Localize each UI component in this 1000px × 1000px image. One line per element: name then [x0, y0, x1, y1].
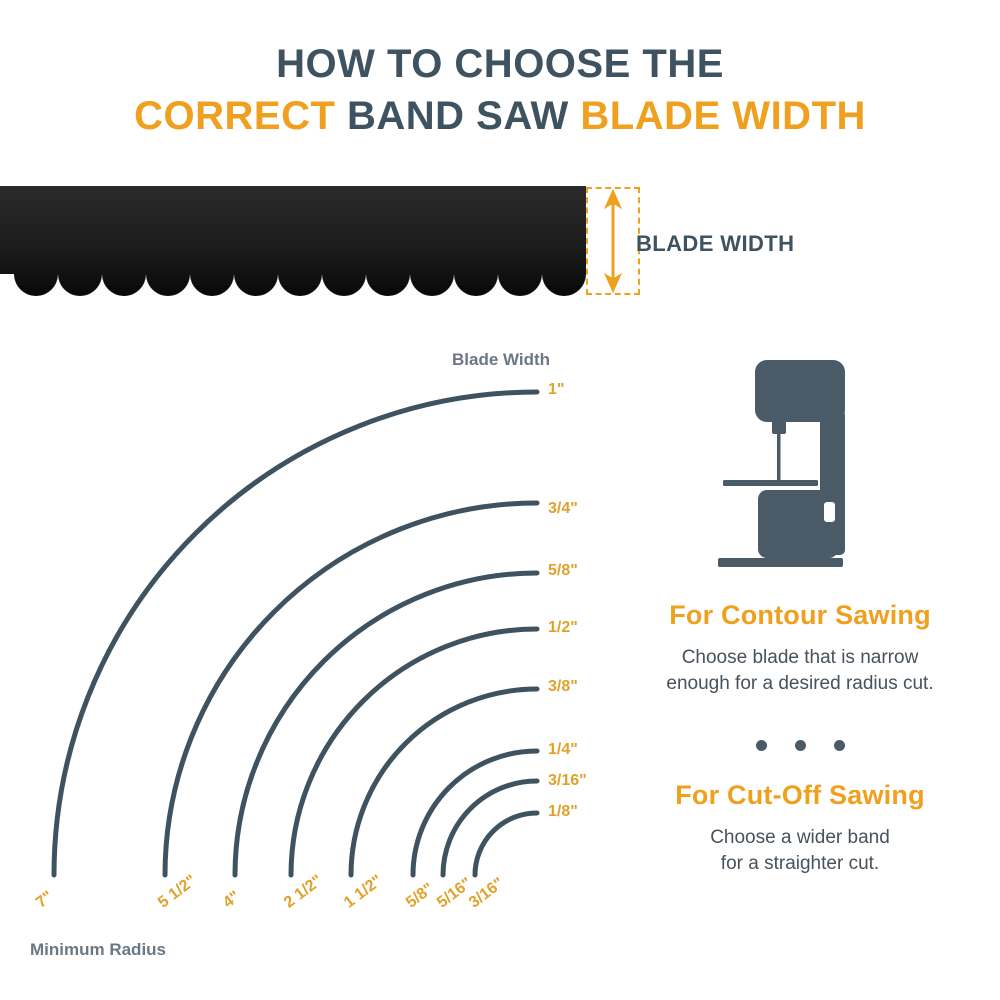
- cutoff-body-line-2: for a straighter cut.: [721, 853, 879, 874]
- headline-bandsaw: BAND SAW: [347, 94, 569, 138]
- arc-label-1-2in: 1/2": [548, 619, 578, 637]
- arc-label-3-4in: 3/4": [548, 500, 578, 518]
- cutoff-sawing-body: Choose a wider band for a straighter cut…: [600, 825, 1000, 877]
- contour-body-line-1: Choose blade that is narrow: [682, 647, 919, 668]
- arc-label-1-8in: 1/8": [548, 803, 578, 821]
- separator-dot: [795, 740, 806, 751]
- cutoff-sawing-title: For Cut-Off Sawing: [600, 780, 1000, 811]
- cutoff-body-line-1: Choose a wider band: [710, 827, 890, 848]
- saw-floor-plate: [718, 558, 843, 567]
- saw-table: [723, 480, 818, 486]
- arc-1-8in: [475, 813, 537, 875]
- arc-1in: [54, 392, 537, 875]
- separator-dot: [834, 740, 845, 751]
- band-saw-machine-icon: [700, 350, 920, 575]
- saw-base-body: [758, 490, 838, 558]
- arc-label-3-16in: 3/16": [548, 772, 587, 790]
- saw-blade-guide: [772, 420, 786, 434]
- blade-width-callout-box: [586, 187, 640, 295]
- blade-illustration: [0, 186, 640, 301]
- arc-1-4in: [413, 751, 537, 875]
- blade-width-text: BLADE WIDTH: [636, 231, 794, 257]
- radius-arc-chart: [0, 330, 620, 900]
- saw-blade-line: [777, 434, 781, 484]
- headline-correct: CORRECT: [134, 94, 335, 138]
- arc-label-1-4in: 1/4": [548, 741, 578, 759]
- arc-label-1in: 1": [548, 381, 564, 399]
- arc-3-4in: [165, 503, 537, 875]
- arc-1-2in: [291, 629, 537, 875]
- contour-body-line-2: enough for a desired radius cut.: [666, 673, 933, 694]
- saw-switch-panel: [824, 502, 835, 522]
- section-separator-dots: [600, 740, 1000, 751]
- contour-sawing-title: For Contour Sawing: [600, 600, 1000, 631]
- page-title: HOW TO CHOOSE THE CORRECT BAND SAW BLADE…: [0, 44, 1000, 136]
- headline-line-1: HOW TO CHOOSE THE: [0, 44, 1000, 84]
- contour-sawing-body: Choose blade that is narrow enough for a…: [600, 645, 1000, 697]
- headline-bladewidth: BLADE WIDTH: [580, 94, 865, 138]
- blade-body: [0, 186, 586, 301]
- arc-3-8in: [351, 689, 537, 875]
- arc-3-16in: [443, 781, 537, 875]
- infographic-page: HOW TO CHOOSE THE CORRECT BAND SAW BLADE…: [0, 0, 1000, 1000]
- cutoff-sawing-tip: For Cut-Off Sawing Choose a wider band f…: [600, 780, 1000, 877]
- headline-line-2: CORRECT BAND SAW BLADE WIDTH: [0, 96, 1000, 136]
- arc-group: [54, 392, 537, 875]
- double-arrow-icon: [605, 190, 621, 292]
- arc-label-5-8in: 5/8": [548, 562, 578, 580]
- separator-dot: [756, 740, 767, 751]
- arc-label-3-8in: 3/8": [548, 678, 578, 696]
- chart-heading-minimum-radius: Minimum Radius: [30, 940, 166, 960]
- contour-sawing-tip: For Contour Sawing Choose blade that is …: [600, 600, 1000, 697]
